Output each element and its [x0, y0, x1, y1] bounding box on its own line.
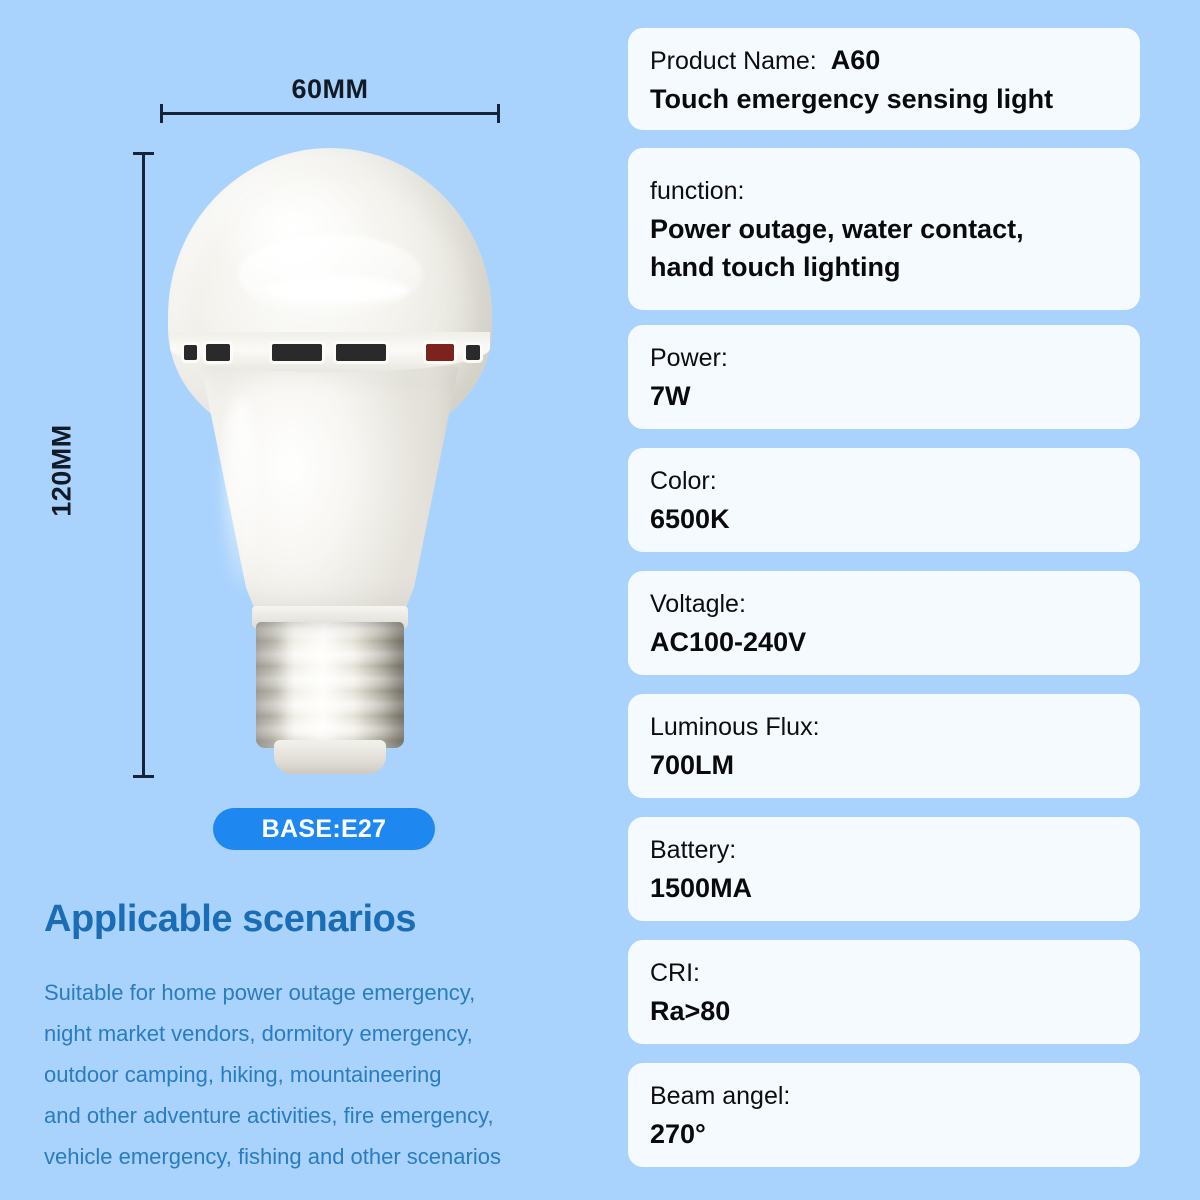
spec-label: function:: [650, 172, 1118, 210]
spec-card-luminous-flux: Luminous Flux: 700LM: [628, 694, 1140, 798]
width-dimension-label: 60MM: [160, 74, 500, 105]
bulb-indicator-led: [426, 344, 454, 361]
spec-label: Luminous Flux:: [650, 708, 1118, 746]
height-dimension-line: [142, 152, 145, 778]
height-dimension-label: 120MM: [47, 391, 78, 551]
bulb-vent-slot: [184, 345, 197, 360]
spec-value: Ra>80: [650, 992, 1118, 1030]
product-image-panel: 60MM 120MM BASE:E27 Applicable scenarios…: [0, 0, 620, 1200]
spec-value: 270°: [650, 1115, 1118, 1153]
applicable-scenarios-body: Suitable for home power outage emergency…: [44, 972, 624, 1177]
spec-card-color: Color: 6500K: [628, 448, 1140, 552]
bulb-dome-highlight-secondary: [264, 276, 409, 304]
spec-value: 7W: [650, 377, 1118, 415]
scenario-line: Suitable for home power outage emergency…: [44, 972, 624, 1013]
spec-value: A60: [831, 41, 881, 79]
spec-label: Beam angel:: [650, 1077, 1118, 1115]
scenario-line: vehicle emergency, fishing and other sce…: [44, 1136, 624, 1177]
spec-value-extra: Touch emergency sensing light: [650, 80, 1118, 118]
spec-value: 700LM: [650, 746, 1118, 784]
spec-label: Voltagle:: [650, 585, 1118, 623]
spec-label: Power:: [650, 339, 1118, 377]
spec-name-row: Product Name: A60: [650, 41, 1118, 80]
width-dimension-line: [160, 112, 500, 115]
spec-value: Power outage, water contact,: [650, 210, 1118, 248]
spec-card-battery: Battery: 1500MA: [628, 817, 1140, 921]
bulb-vent-slot: [466, 345, 480, 360]
spec-label: Product Name:: [650, 42, 817, 80]
bulb-vent-slot: [272, 344, 322, 361]
spec-card-product-name: Product Name: A60 Touch emergency sensin…: [628, 28, 1140, 130]
height-dimension-tick-top: [133, 152, 154, 155]
spec-value-extra: hand touch lighting: [650, 248, 1118, 286]
e27-screw-base-shading: [256, 622, 404, 748]
bulb-base-tip: [274, 740, 386, 774]
applicable-scenarios-heading: Applicable scenarios: [44, 898, 416, 941]
spec-value: 6500K: [650, 500, 1118, 538]
bulb-vent-slot: [206, 344, 230, 361]
specification-list: Product Name: A60 Touch emergency sensin…: [628, 0, 1140, 1200]
height-dimension-tick-bottom: [133, 775, 154, 778]
spec-label: Color:: [650, 462, 1118, 500]
base-type-badge: BASE:E27: [213, 808, 435, 850]
spec-card-voltage: Voltagle: AC100-240V: [628, 571, 1140, 675]
bulb-vent-slot: [336, 344, 386, 361]
scenario-line: outdoor camping, hiking, mountaineering: [44, 1054, 624, 1095]
width-dimension-tick-left: [160, 104, 163, 123]
spec-label: CRI:: [650, 954, 1118, 992]
spec-card-function: function: Power outage, water contact, h…: [628, 148, 1140, 310]
spec-label: Battery:: [650, 831, 1118, 869]
spec-value: AC100-240V: [650, 623, 1118, 661]
width-dimension-tick-right: [497, 104, 500, 123]
bulb-neck-highlight: [224, 398, 258, 588]
scenario-line: night market vendors, dormitory emergenc…: [44, 1013, 624, 1054]
led-bulb-image: [168, 148, 492, 788]
spec-card-beam-angle: Beam angel: 270°: [628, 1063, 1140, 1167]
spec-value: 1500MA: [650, 869, 1118, 907]
spec-card-power: Power: 7W: [628, 325, 1140, 429]
spec-card-cri: CRI: Ra>80: [628, 940, 1140, 1044]
scenario-line: and other adventure activities, fire eme…: [44, 1095, 624, 1136]
